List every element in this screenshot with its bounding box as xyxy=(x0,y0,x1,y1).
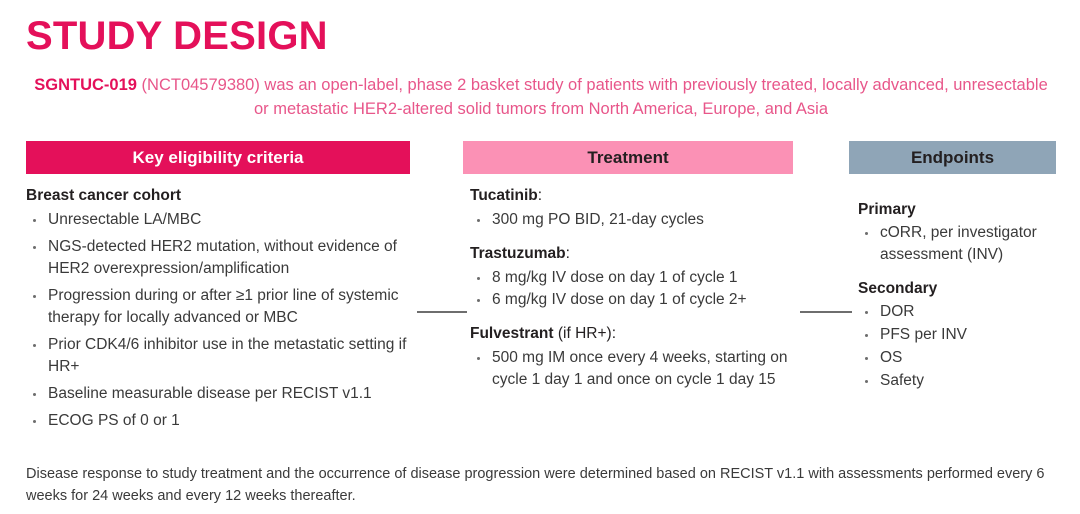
column-header-eligibility: Key eligibility criteria xyxy=(26,141,410,174)
column-header-treatment: Treatment xyxy=(463,141,793,174)
list-item: ECOG PS of 0 or 1 xyxy=(26,410,426,432)
connector-line-treatment-endpoints xyxy=(800,311,852,313)
bullet-list: DORPFS per INVOSSafety xyxy=(858,301,1068,392)
group-title: Fulvestrant (if HR+): xyxy=(470,324,800,345)
group-treatment-1: Trastuzumab:8 mg/kg IV dose on day 1 of … xyxy=(470,244,800,311)
study-design-slide: STUDY DESIGN SGNTUC-019 (NCT04579380) wa… xyxy=(0,0,1080,514)
list-item: Safety xyxy=(858,370,1068,392)
column-header-endpoints: Endpoints xyxy=(849,141,1056,174)
bullet-list: 300 mg PO BID, 21-day cycles xyxy=(470,209,800,231)
list-item: Progression during or after ≥1 prior lin… xyxy=(26,285,426,329)
group-title: Breast cancer cohort xyxy=(26,186,426,207)
page-title: STUDY DESIGN xyxy=(26,14,328,58)
group-endpoints-0: PrimarycORR, per investigator assessment… xyxy=(858,200,1068,266)
list-item: OS xyxy=(858,347,1068,369)
group-title-suffix: : xyxy=(538,187,542,204)
list-item: Unresectable LA/MBC xyxy=(26,209,426,231)
list-item: cORR, per investigator assessment (INV) xyxy=(858,222,1068,266)
list-item: PFS per INV xyxy=(858,324,1068,346)
list-item: DOR xyxy=(858,301,1068,323)
bullet-list: Unresectable LA/MBCNGS-detected HER2 mut… xyxy=(26,209,426,432)
group-title-suffix: : xyxy=(566,245,570,262)
bullet-list: cORR, per investigator assessment (INV) xyxy=(858,222,1068,266)
list-item: Baseline measurable disease per RECIST v… xyxy=(26,383,426,405)
footer-note: Disease response to study treatment and … xyxy=(26,463,1046,508)
group-title: Tucatinib: xyxy=(470,186,800,207)
column-endpoints: PrimarycORR, per investigator assessment… xyxy=(858,200,1068,393)
group-title: Trastuzumab: xyxy=(470,244,800,265)
study-subtitle: SGNTUC-019 (NCT04579380) was an open-lab… xyxy=(26,74,1056,122)
study-id-label: SGNTUC-019 xyxy=(34,76,137,94)
bullet-list: 500 mg IM once every 4 weeks, starting o… xyxy=(470,347,800,391)
list-item: 500 mg IM once every 4 weeks, starting o… xyxy=(470,347,800,391)
list-item: Prior CDK4/6 inhibitor use in the metast… xyxy=(26,334,426,378)
group-treatment-2: Fulvestrant (if HR+):500 mg IM once ever… xyxy=(470,324,800,391)
group-endpoints-1: SecondaryDORPFS per INVOSSafety xyxy=(858,279,1068,392)
group-treatment-0: Tucatinib:300 mg PO BID, 21-day cycles xyxy=(470,186,800,231)
bullet-list: 8 mg/kg IV dose on day 1 of cycle 16 mg/… xyxy=(470,267,800,311)
group-title: Secondary xyxy=(858,279,1068,300)
group-title: Primary xyxy=(858,200,1068,221)
list-item: 6 mg/kg IV dose on day 1 of cycle 2+ xyxy=(470,289,800,311)
column-treatment: Tucatinib:300 mg PO BID, 21-day cyclesTr… xyxy=(470,186,800,391)
group-eligibility-0: Breast cancer cohortUnresectable LA/MBCN… xyxy=(26,186,426,432)
list-item: 8 mg/kg IV dose on day 1 of cycle 1 xyxy=(470,267,800,289)
column-eligibility: Breast cancer cohortUnresectable LA/MBCN… xyxy=(26,186,426,437)
group-title-suffix: (if HR+): xyxy=(554,325,616,342)
list-item: 300 mg PO BID, 21-day cycles xyxy=(470,209,800,231)
list-item: NGS-detected HER2 mutation, without evid… xyxy=(26,236,426,280)
study-subtitle-text: (NCT04579380) was an open-label, phase 2… xyxy=(137,76,1048,118)
